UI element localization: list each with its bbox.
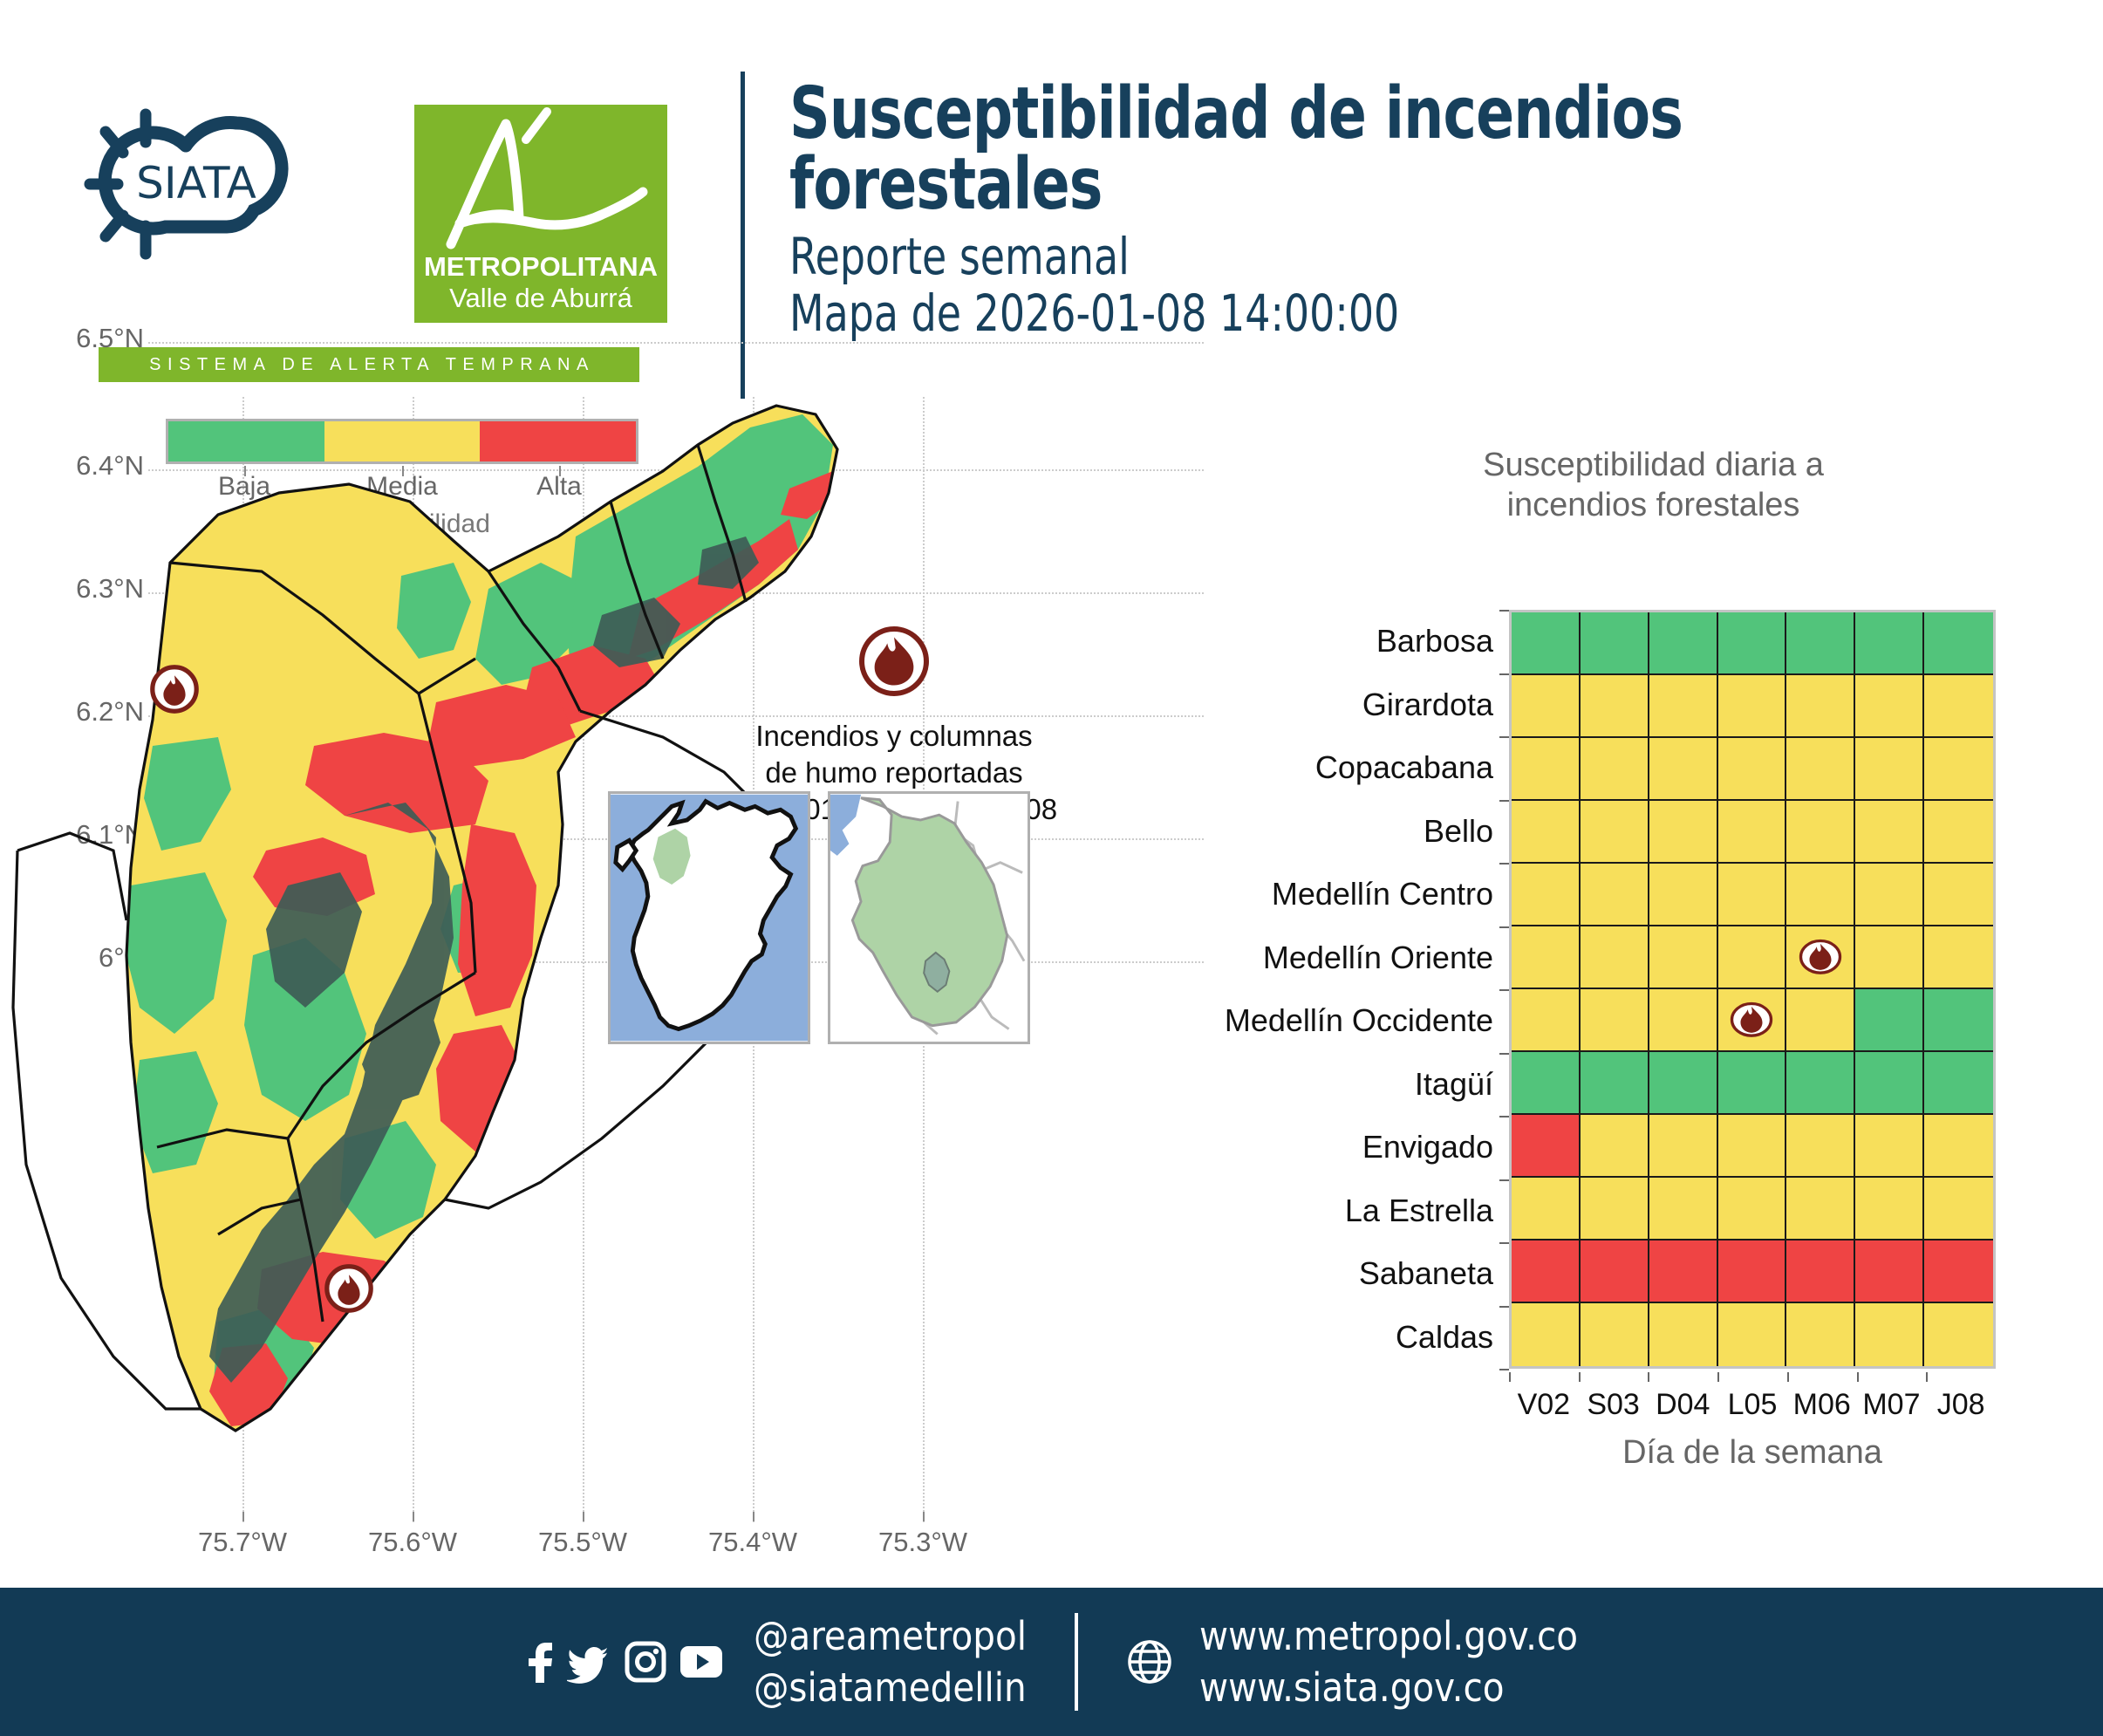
heatmap-cell[interactable] xyxy=(1718,864,1787,926)
heatmap-row-tick xyxy=(1499,610,1509,612)
heatmap-cell[interactable] xyxy=(1924,864,1993,926)
heatmap-cell[interactable] xyxy=(1786,738,1855,801)
heatmap-grid xyxy=(1509,610,1996,1369)
heatmap-cell[interactable] xyxy=(1581,738,1649,801)
heatmap-column-tick xyxy=(1857,1372,1859,1382)
handle-areametropol[interactable]: @areametropol xyxy=(754,1610,1027,1662)
heatmap-cell[interactable] xyxy=(1581,989,1649,1052)
heatmap-cell[interactable] xyxy=(1581,1240,1649,1303)
heatmap-cell[interactable] xyxy=(1786,1052,1855,1115)
heatmap-cell[interactable] xyxy=(1649,864,1718,926)
twitter-icon[interactable] xyxy=(567,1639,612,1685)
heatmap-row-tick xyxy=(1499,863,1509,865)
susceptibility-map-panel: 6.5°N 6.4°N 6.3°N 6.2°N 6.1°N 6°N 75.7°W… xyxy=(0,397,1204,1588)
heatmap-cell[interactable] xyxy=(1649,675,1718,738)
globe-icon xyxy=(1126,1638,1173,1685)
heatmap-row-label: Bello xyxy=(1424,813,1493,850)
heatmap-row-label: Medellín Centro xyxy=(1272,876,1493,912)
heatmap-cell[interactable] xyxy=(1855,1115,1924,1178)
heatmap-cell[interactable] xyxy=(1649,1240,1718,1303)
heatmap-cell[interactable] xyxy=(1718,675,1787,738)
heatmap-x-axis-title: Día de la semana xyxy=(1622,1434,1882,1472)
website-siata[interactable]: www.siata.gov.co xyxy=(1199,1662,1578,1713)
map-lon-tick-label: 75.7°W xyxy=(198,1527,287,1558)
heatmap-cell[interactable] xyxy=(1924,1178,1993,1240)
heatmap-row-tick xyxy=(1499,673,1509,675)
report-subtitle: Reporte semanal xyxy=(789,229,1902,285)
heatmap-row-tick xyxy=(1499,736,1509,738)
heatmap-row-tick xyxy=(1499,800,1509,802)
heatmap-cell[interactable] xyxy=(1924,612,1993,675)
heatmap-cell[interactable] xyxy=(1924,926,1993,989)
heatmap-cell[interactable] xyxy=(1512,1052,1581,1115)
heatmap-row-label: Envigado xyxy=(1362,1129,1493,1165)
heatmap-cell[interactable] xyxy=(1718,1240,1787,1303)
heatmap-cell[interactable] xyxy=(1649,801,1718,864)
heatmap-row-label: Girardota xyxy=(1362,687,1493,723)
fire-legend-line-2: de humo reportadas xyxy=(676,755,1112,791)
heatmap-cell[interactable] xyxy=(1718,1178,1787,1240)
heatmap-cell[interactable] xyxy=(1512,926,1581,989)
heatmap-row-label: La Estrella xyxy=(1345,1193,1493,1229)
fire-icon xyxy=(1730,1001,1773,1038)
heatmap-cell[interactable] xyxy=(1855,926,1924,989)
heatmap-cell[interactable] xyxy=(1581,801,1649,864)
heatmap-cell[interactable] xyxy=(1786,675,1855,738)
map-lon-tick-label: 75.3°W xyxy=(878,1527,967,1558)
heatmap-cell[interactable] xyxy=(1649,738,1718,801)
header-divider xyxy=(741,72,745,399)
heatmap-cell[interactable] xyxy=(1581,675,1649,738)
heatmap-cell[interactable] xyxy=(1855,989,1924,1052)
heatmap-column-tick xyxy=(1509,1372,1511,1382)
heatmap-cell[interactable] xyxy=(1855,738,1924,801)
heatmap-row-label: Itagüí xyxy=(1415,1066,1493,1103)
inset-map-colombia xyxy=(608,791,810,1044)
heatmap-cell[interactable] xyxy=(1786,864,1855,926)
heatmap-row-label: Caldas xyxy=(1396,1319,1493,1356)
heatmap-cell[interactable] xyxy=(1649,1303,1718,1366)
heatmap-cell[interactable] xyxy=(1718,989,1787,1052)
heatmap-cell[interactable] xyxy=(1581,926,1649,989)
page-header: SIATA METROPOLITANA Valle de Aburrá SIST… xyxy=(0,0,2103,397)
heatmap-cell[interactable] xyxy=(1512,1240,1581,1303)
heatmap-column-label: D04 xyxy=(1656,1388,1710,1422)
map-lon-tick-label: 75.5°W xyxy=(538,1527,627,1558)
header-text-block: Susceptibilidad de incendios forestales … xyxy=(789,79,2054,342)
fire-legend-line-1: Incendios y columnas xyxy=(676,718,1112,755)
heatmap-fire-marker xyxy=(1730,1001,1773,1038)
youtube-icon[interactable] xyxy=(679,1644,724,1679)
heatmap-title: Susceptibilidad diaria a incendios fores… xyxy=(1204,445,2103,526)
heatmap-column-tick xyxy=(1717,1372,1719,1382)
heatmap-cell[interactable] xyxy=(1649,926,1718,989)
heatmap-row-tick xyxy=(1499,1053,1509,1055)
heatmap-column-tick xyxy=(1787,1372,1789,1382)
page-footer: @areametropol @siatamedellin www.metropo… xyxy=(0,1588,2103,1736)
heatmap-cell[interactable] xyxy=(1786,1303,1855,1366)
map-fire-marker xyxy=(327,1267,371,1310)
heatmap-cell[interactable] xyxy=(1512,1178,1581,1240)
heatmap-column-label: J08 xyxy=(1937,1388,1985,1422)
website-links: www.metropol.gov.co www.siata.gov.co xyxy=(1199,1610,1578,1714)
heatmap-cell[interactable] xyxy=(1718,926,1787,989)
heatmap-column-label: L05 xyxy=(1728,1388,1778,1422)
heatmap-cell[interactable] xyxy=(1649,612,1718,675)
heatmap-cell[interactable] xyxy=(1512,864,1581,926)
map-gridline-lat xyxy=(148,342,1204,344)
heatmap-cell[interactable] xyxy=(1718,801,1787,864)
handle-siatamedellin[interactable]: @siatamedellin xyxy=(754,1662,1027,1713)
heatmap-cell[interactable] xyxy=(1855,1178,1924,1240)
heatmap-cell[interactable] xyxy=(1718,1303,1787,1366)
heatmap-fire-marker xyxy=(1799,939,1842,975)
heatmap-cell[interactable] xyxy=(1855,801,1924,864)
website-metropol[interactable]: www.metropol.gov.co xyxy=(1199,1610,1578,1662)
heatmap-cell[interactable] xyxy=(1924,989,1993,1052)
heatmap-cell[interactable] xyxy=(1924,675,1993,738)
heatmap-cell[interactable] xyxy=(1786,1178,1855,1240)
heatmap-row-label: Medellín Oriente xyxy=(1263,940,1493,976)
heatmap-row-tick xyxy=(1499,926,1509,928)
heatmap-cell[interactable] xyxy=(1924,1052,1993,1115)
heatmap-row-tick xyxy=(1499,1242,1509,1244)
heatmap-cell[interactable] xyxy=(1786,801,1855,864)
heatmap-cell[interactable] xyxy=(1786,989,1855,1052)
heatmap-cell[interactable] xyxy=(1581,1303,1649,1366)
area-logo-line2: Valle de Aburrá xyxy=(449,283,632,313)
heatmap-cell[interactable] xyxy=(1855,612,1924,675)
heatmap-cell[interactable] xyxy=(1512,1115,1581,1178)
heatmap-cell[interactable] xyxy=(1649,989,1718,1052)
heatmap-cell[interactable] xyxy=(1581,864,1649,926)
heatmap-cell[interactable] xyxy=(1512,612,1581,675)
heatmap-column-tick xyxy=(1648,1372,1649,1382)
heatmap-cell[interactable] xyxy=(1718,738,1787,801)
map-lon-tick-label: 75.6°W xyxy=(368,1527,457,1558)
heatmap-cell[interactable] xyxy=(1855,1303,1924,1366)
heatmap-cell[interactable] xyxy=(1581,612,1649,675)
social-icon-group xyxy=(525,1639,724,1685)
heatmap-column-label: M06 xyxy=(1793,1388,1851,1422)
heatmap-cell[interactable] xyxy=(1855,1052,1924,1115)
heatmap-cell[interactable] xyxy=(1512,738,1581,801)
siata-logo: SIATA xyxy=(83,100,379,318)
heatmap-cell[interactable] xyxy=(1581,1052,1649,1115)
fire-icon xyxy=(1799,939,1842,975)
heatmap-cell[interactable] xyxy=(1581,1178,1649,1240)
heatmap-row-label: Medellín Occidente xyxy=(1225,1002,1493,1039)
heatmap-column-label: S03 xyxy=(1587,1388,1640,1422)
heatmap-cell[interactable] xyxy=(1649,1115,1718,1178)
map-lon-tick-label: 75.4°W xyxy=(708,1527,797,1558)
heatmap-cell[interactable] xyxy=(1855,864,1924,926)
heatmap-row-tick xyxy=(1499,1369,1509,1370)
heatmap-cell[interactable] xyxy=(1855,675,1924,738)
heatmap-cell[interactable] xyxy=(1924,738,1993,801)
heatmap-row-label: Copacabana xyxy=(1315,749,1493,786)
heatmap-row-tick xyxy=(1499,989,1509,991)
footer-divider xyxy=(1075,1613,1078,1711)
heatmap-row-label: Barbosa xyxy=(1376,623,1493,660)
heatmap-cell[interactable] xyxy=(1649,1052,1718,1115)
heatmap-cell[interactable] xyxy=(1581,1115,1649,1178)
heatmap-cell[interactable] xyxy=(1924,1240,1993,1303)
heatmap-column-label: M07 xyxy=(1862,1388,1920,1422)
siata-tagline-bar: SISTEMA DE ALERTA TEMPRANA xyxy=(99,347,639,382)
daily-susceptibility-heatmap-panel: Susceptibilidad diaria a incendios fores… xyxy=(1204,397,2103,1588)
siata-wordmark: SIATA xyxy=(136,158,256,208)
heatmap-column-label: V02 xyxy=(1518,1388,1571,1422)
heatmap-cell[interactable] xyxy=(1855,1240,1924,1303)
heatmap-cell[interactable] xyxy=(1786,1240,1855,1303)
heatmap-row-tick xyxy=(1499,1116,1509,1117)
social-handles: @areametropol @siatamedellin xyxy=(754,1610,1027,1714)
instagram-icon[interactable] xyxy=(625,1641,666,1683)
heatmap-cell[interactable] xyxy=(1924,1115,1993,1178)
heatmap-column-tick xyxy=(1926,1372,1928,1382)
facebook-icon[interactable] xyxy=(525,1639,555,1685)
heatmap-cell[interactable] xyxy=(1718,1052,1787,1115)
area-metropolitana-logo: METROPOLITANA Valle de Aburrá xyxy=(414,105,667,323)
heatmap-cell[interactable] xyxy=(1512,1303,1581,1366)
map-timestamp: Mapa de 2026-01-08 14:00:00 xyxy=(789,285,1902,342)
heatmap-cell[interactable] xyxy=(1924,1303,1993,1366)
heatmap-row-tick xyxy=(1499,1306,1509,1308)
heatmap-cell[interactable] xyxy=(1924,801,1993,864)
map-fire-marker xyxy=(153,667,196,711)
heatmap-column-tick xyxy=(1579,1372,1581,1382)
map-lat-tick-label: 6.5°N xyxy=(52,323,144,354)
heatmap-cell[interactable] xyxy=(1786,1115,1855,1178)
heatmap-cell[interactable] xyxy=(1649,1178,1718,1240)
heatmap-cell[interactable] xyxy=(1512,675,1581,738)
heatmap-cell[interactable] xyxy=(1718,1115,1787,1178)
heatmap-cell[interactable] xyxy=(1786,926,1855,989)
heatmap-row-label: Sabaneta xyxy=(1359,1255,1493,1292)
heatmap-cell[interactable] xyxy=(1718,612,1787,675)
siata-tagline: SISTEMA DE ALERTA TEMPRANA xyxy=(143,355,595,375)
heatmap-cell[interactable] xyxy=(1512,801,1581,864)
fire-icon xyxy=(857,624,932,699)
heatmap-row-tick xyxy=(1499,1179,1509,1181)
heatmap-cell[interactable] xyxy=(1786,612,1855,675)
inset-map-antioquia xyxy=(828,791,1030,1044)
heatmap-cell[interactable] xyxy=(1512,989,1581,1052)
page-title: Susceptibilidad de incendios forestales xyxy=(789,79,1902,220)
area-logo-line1: METROPOLITANA xyxy=(424,251,658,282)
